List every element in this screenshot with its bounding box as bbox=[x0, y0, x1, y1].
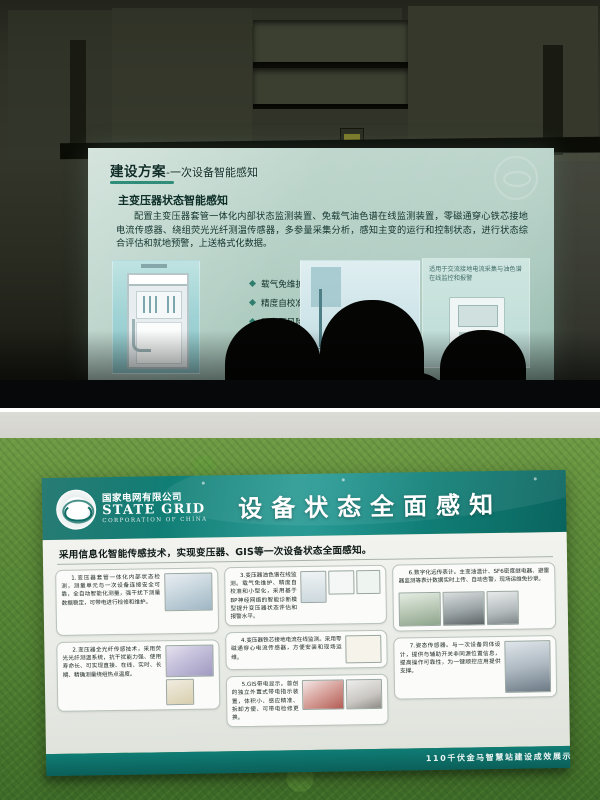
arrester-monitor-photo bbox=[487, 591, 520, 625]
slide-heading: 主变压器状态智能感知 bbox=[118, 192, 228, 208]
slide-watermark-icon bbox=[494, 156, 538, 200]
oil-thermometer-photo bbox=[399, 592, 442, 627]
slide-title: 建设方案-一次设备智能感知 bbox=[110, 160, 258, 180]
card-thumbnails bbox=[399, 591, 550, 627]
card-thumbnails bbox=[301, 570, 382, 620]
card-text: 2.变压器全光纤传感技术，采用荧光光纤测温系统，抗干扰能力强、使用寿命长、可实现… bbox=[62, 645, 162, 707]
chromatograph-cabinet-photo bbox=[301, 571, 327, 603]
wall-niche-upper bbox=[253, 20, 408, 65]
info-card: 3.变压器油色谱在线监测。载气免维护、精度自校准和小型化，采用基于BP神经网络的… bbox=[224, 565, 388, 627]
card-thumbnails bbox=[302, 679, 383, 721]
column-2: 3.变压器油色谱在线监测。载气免维护、精度自校准和小型化，采用基于BP神经网络的… bbox=[224, 565, 389, 728]
cabinet-panel bbox=[136, 291, 182, 319]
niche-shelf bbox=[253, 104, 408, 109]
sf6-relay-photo bbox=[443, 592, 486, 627]
info-card: 5.GIS带电显示。首创的独立外置式带电指示装置，体积小、感应精准、拆卸方便、可… bbox=[226, 674, 389, 728]
card-thumbnails bbox=[346, 635, 382, 664]
core-current-sensor-photo bbox=[346, 635, 382, 664]
company-name-en: STATE GRID bbox=[102, 502, 205, 519]
info-card: 1.变压器套管一体化内部状态检测，测量单元与一次设备连接安全可靠，全自动智能化测… bbox=[55, 567, 219, 636]
board-title: 设备状态全面感知 bbox=[238, 485, 503, 524]
chart-inset bbox=[311, 267, 341, 307]
cabinet-top bbox=[129, 275, 187, 286]
card-thumbnails bbox=[504, 641, 551, 694]
fiber-sensor-diagram bbox=[166, 679, 194, 705]
card-thumbnails bbox=[165, 644, 214, 705]
column-1: 1.变压器套管一体化内部状态检测，测量单元与一次设备连接安全可靠，全自动智能化测… bbox=[55, 567, 220, 730]
fiber-board-photo bbox=[165, 644, 213, 677]
equipment-label bbox=[141, 264, 167, 268]
dark-foreground bbox=[0, 380, 600, 408]
info-card: 6.数字化远传表计。主变油温计、SF6密度继电器、避雷器监测等表计数据实时上传、… bbox=[392, 562, 556, 632]
diagnosis-chart-1 bbox=[329, 570, 355, 594]
card-text: 6.数字化远传表计。主变油温计、SF6密度继电器、避雷器监测等表计数据实时上传、… bbox=[399, 567, 550, 586]
slide-title-sub: -一次设备智能感知 bbox=[166, 166, 258, 179]
info-card: 2.变压器全光纤传感技术，采用荧光光纤测温系统，抗干扰能力强、使用寿命长、可实现… bbox=[56, 639, 220, 712]
slide-title-main: 建设方案 bbox=[110, 164, 166, 180]
card-text: 3.变压器油色谱在线监测。载气免维护、精度自校准和小型化，采用基于BP神经网络的… bbox=[230, 571, 297, 621]
diagnosis-chart-2 bbox=[357, 570, 381, 594]
screenshot-root: 建设方案-一次设备智能感知 主变压器状态智能感知 配置主变压器套管一体化内部状态… bbox=[0, 0, 600, 800]
slide-body-text: 配置主变压器套管一体化内部状态监测装置、免载气油色谱在线监测装置，零磁通穿心铁芯… bbox=[116, 210, 528, 251]
card-text: 1.变压器套管一体化内部状态检测，测量单元与一次设备连接安全可靠，全自动智能化测… bbox=[61, 573, 161, 631]
wall-panel bbox=[8, 10, 112, 160]
wall-panel bbox=[112, 8, 252, 160]
board-header: 国家电网有限公司 STATE GRID CORPORATION OF CHINA… bbox=[42, 470, 567, 540]
board-footer-text: 110千伏金马智慧站建设成效展示 bbox=[426, 751, 572, 764]
wall-pillar-left bbox=[70, 40, 86, 155]
info-card: 4.变压器铁芯接地电流在线监测。采用零磁通穿心电流传感器，方便安装和现场运维。 bbox=[225, 630, 388, 671]
card-text: 5.GIS带电显示。首创的独立外置式带电指示装置，体积小、感应精准、拆卸方便、可… bbox=[232, 680, 299, 722]
card-text: 4.变压器铁芯接地电流在线监测。采用零磁通穿心电流传感器，方便安装和现场运维。 bbox=[231, 636, 342, 666]
bushing-sensor-photo bbox=[164, 572, 213, 611]
attitude-sensor-photo bbox=[504, 641, 551, 694]
info-card: 7.姿态传感器。与一次设备同体设计，提供与辅助开关非同源位置信息，提高操作可靠性… bbox=[394, 635, 558, 700]
title-underline bbox=[110, 181, 174, 184]
top-photo-projector-room: 建设方案-一次设备智能感知 主变压器状态智能感知 配置主变压器套管一体化内部状态… bbox=[0, 0, 600, 408]
board-subtitle: 采用信息化智能传感技术，实现变压器、GIS等一次设备状态全面感知。 bbox=[59, 542, 372, 561]
gis-indicator-photo-2 bbox=[346, 679, 382, 710]
exhibition-board: 国家电网有限公司 STATE GRID CORPORATION OF CHINA… bbox=[42, 470, 571, 776]
board-body: 采用信息化智能传感技术，实现变压器、GIS等一次设备状态全面感知。 1.变压器套… bbox=[43, 532, 570, 754]
device-screen bbox=[458, 305, 498, 327]
column-3: 6.数字化远传表计。主变油温计、SF6密度继电器、避雷器监测等表计数据实时上传、… bbox=[392, 562, 557, 725]
slide-note-text: 适用于交流接地电流采集与油色谱在线监控和报警 bbox=[429, 265, 523, 283]
card-columns: 1.变压器套管一体化内部状态检测，测量单元与一次设备连接安全可靠，全自动智能化测… bbox=[55, 562, 557, 730]
card-text: 7.姿态传感器。与一次设备同体设计，提供与辅助开关非同源位置信息，提高操作可靠性… bbox=[400, 641, 501, 695]
wall-niche-lower bbox=[253, 68, 408, 108]
gis-indicator-photo-1 bbox=[302, 680, 344, 711]
card-thumbnails bbox=[164, 572, 213, 629]
bottom-photo-exhibition-board: 国家电网有限公司 STATE GRID CORPORATION OF CHINA… bbox=[0, 412, 600, 800]
